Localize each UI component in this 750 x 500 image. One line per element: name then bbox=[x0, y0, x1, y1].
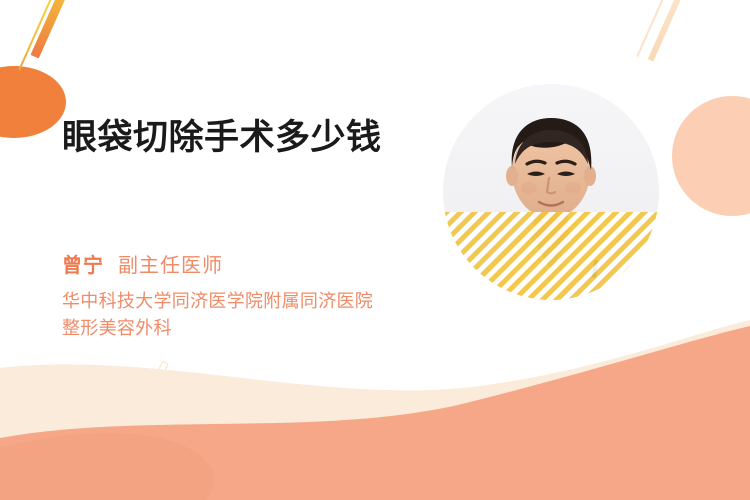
outlined-stripe-bottom-left bbox=[142, 361, 168, 405]
diagonal-stripe-top-right-thin bbox=[636, 0, 670, 57]
orange-circle-decoration bbox=[0, 66, 66, 138]
diagonal-stripe-top-right-thick bbox=[648, 0, 688, 62]
yellow-stripe-wedge bbox=[443, 212, 659, 300]
promo-card: 眼袋切除手术多少钱 曾宁 副主任医师 华中科技大学同济医学院附属同济医院 整形美… bbox=[0, 0, 750, 500]
avatar bbox=[443, 84, 659, 300]
doctor-identity: 曾宁 副主任医师 bbox=[62, 249, 223, 278]
bottom-wave-decoration bbox=[0, 320, 750, 500]
page-title: 眼袋切除手术多少钱 bbox=[62, 116, 407, 160]
doctor-name: 曾宁 bbox=[62, 249, 104, 278]
doctor-hospital: 华中科技大学同济医学院附属同济医院 bbox=[62, 288, 462, 315]
wave-cream bbox=[0, 320, 750, 500]
wave-salmon-accent bbox=[0, 433, 214, 500]
doctor-rank: 副主任医师 bbox=[118, 249, 223, 278]
diagonal-stripe-top-left-thin bbox=[18, 0, 56, 71]
peach-blob-decoration bbox=[672, 96, 750, 216]
doctor-department: 整形美容外科 bbox=[62, 315, 462, 342]
doctor-affiliation: 华中科技大学同济医学院附属同济医院 整形美容外科 bbox=[62, 288, 462, 342]
diagonal-stripe-top-left-thick bbox=[31, 0, 71, 58]
wave-salmon bbox=[0, 326, 750, 500]
